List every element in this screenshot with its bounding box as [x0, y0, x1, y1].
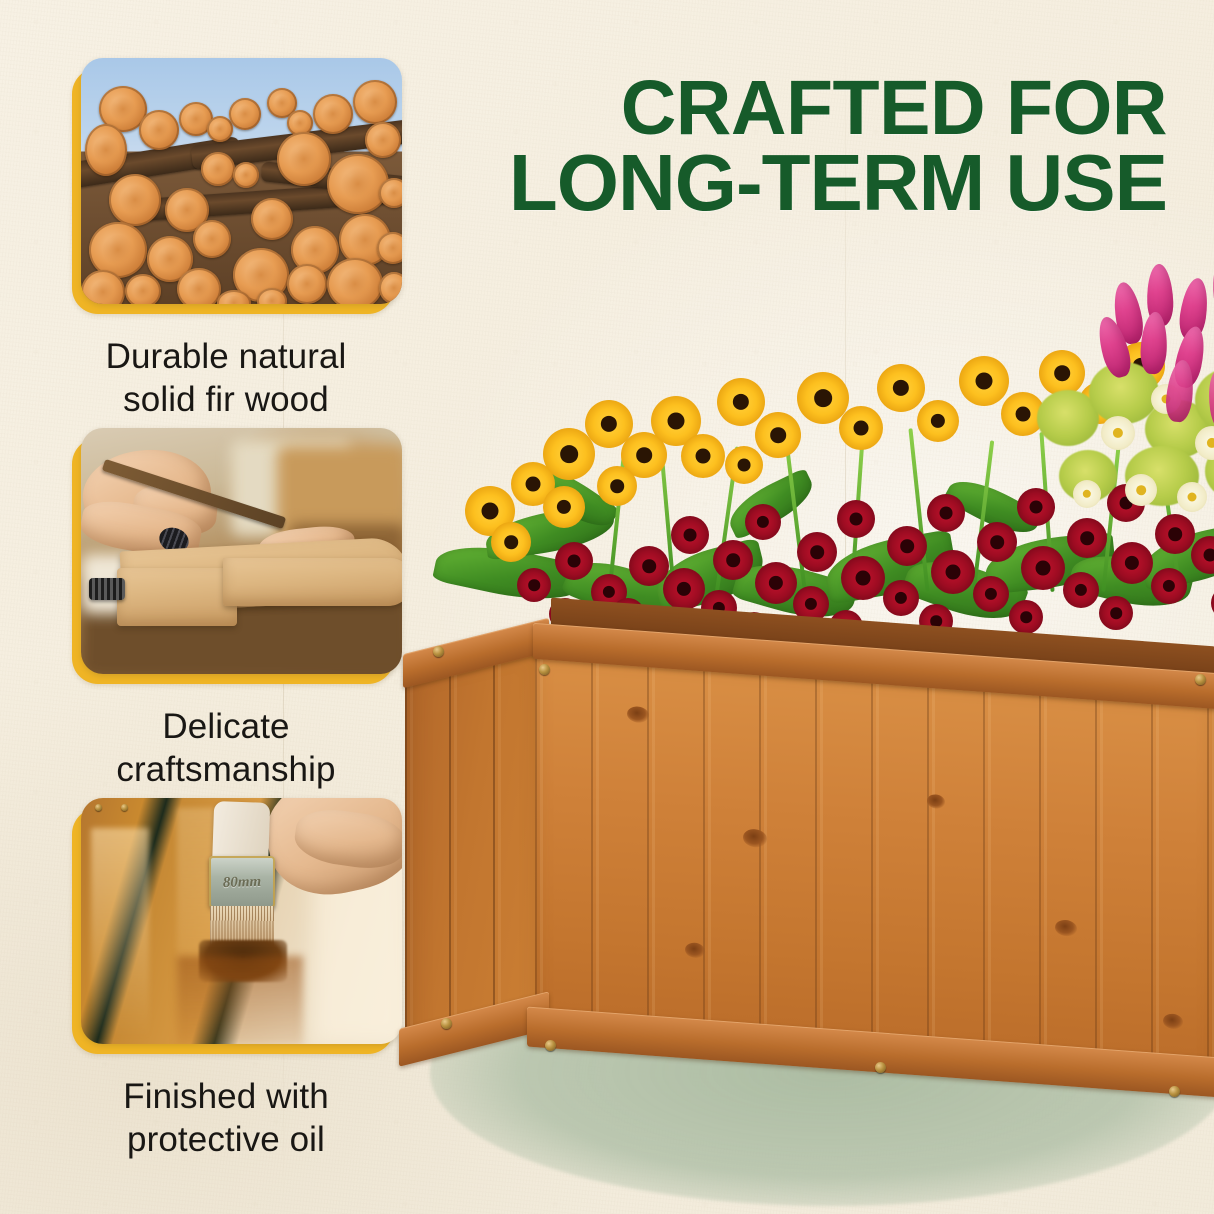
- log-pile-photo: [81, 58, 402, 304]
- caption-line-2: protective oil: [127, 1120, 325, 1159]
- brush-size-label: 80mm: [209, 873, 276, 892]
- caption-line-1: Delicate: [162, 707, 289, 746]
- oil-brush-photo: 80mm: [81, 798, 402, 1044]
- screw-head: [441, 1018, 452, 1029]
- page-title: CRAFTED FOR LONG-TERM USE: [495, 72, 1167, 221]
- feature-thumbnail-wrap: [72, 428, 402, 684]
- caption-line-1: Finished with: [123, 1077, 329, 1116]
- screw-head: [875, 1062, 886, 1073]
- screw-head: [545, 1040, 556, 1051]
- feature-item-durable-wood: Durable natural solid fir wood: [0, 58, 452, 421]
- product-image: [405, 250, 1214, 1214]
- feature-caption: Finished with protective oil: [0, 1076, 452, 1161]
- feature-thumbnail-wrap: [72, 58, 402, 314]
- flower-arrangement: [425, 250, 1214, 680]
- caption-line-2: solid fir wood: [123, 380, 329, 419]
- feature-thumbnail-wrap: 80mm: [72, 798, 402, 1054]
- feature-caption: Delicate craftsmanship: [0, 706, 452, 791]
- caption-line-1: Durable natural: [106, 337, 347, 376]
- feature-item-craftsmanship: Delicate craftsmanship: [0, 428, 452, 791]
- screw-head: [433, 646, 444, 657]
- woodworking-photo: [81, 428, 402, 674]
- screw-head: [539, 664, 550, 675]
- feature-caption: Durable natural solid fir wood: [0, 336, 452, 421]
- screw-head: [1195, 674, 1206, 685]
- caption-line-2: craftsmanship: [116, 750, 335, 789]
- feature-item-protective-oil: 80mm Finished with protective oil: [0, 798, 452, 1161]
- title-line-2: LONG-TERM USE: [495, 145, 1167, 221]
- screw-head: [1169, 1086, 1180, 1097]
- poster-canvas: CRAFTED FOR LONG-TERM USE: [0, 0, 1214, 1214]
